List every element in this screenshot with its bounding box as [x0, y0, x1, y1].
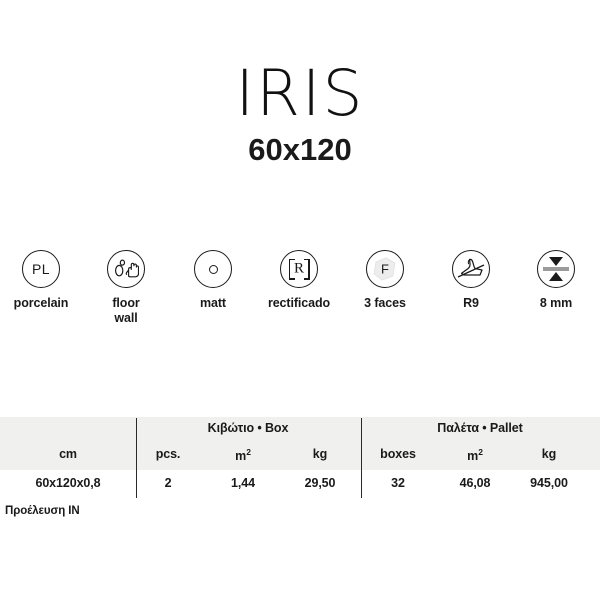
- table-cell-pallet-kg: 945,00: [504, 476, 594, 490]
- slip-resistance-shoe-icon: [452, 250, 490, 288]
- feature-label-floor-wall: floor wall: [83, 296, 169, 325]
- table-cell-cm: 60x120x0,8: [23, 476, 113, 490]
- table-group-header-pallet: Παλέτα • Pallet: [365, 421, 595, 435]
- thickness-arrow-down-top: [549, 257, 563, 266]
- feature-item-porcelain: PL porcelain: [0, 250, 84, 311]
- thickness-arrow-up-bottom: [549, 272, 563, 281]
- feature-item-matt: matt: [170, 250, 256, 311]
- thickness-arrows-wrap: [543, 257, 569, 281]
- table-column-header-box-kg: kg: [275, 447, 365, 461]
- matt-inner-ring: [209, 265, 218, 274]
- matt-finish-ring-icon: [194, 250, 232, 288]
- faces-polygon-wrap: F: [372, 256, 398, 282]
- feature-label-8mm: 8 mm: [513, 296, 599, 311]
- rectified-r-letter: R: [289, 262, 310, 277]
- table-column-header-pallet-kg: kg: [504, 447, 594, 461]
- feature-label-matt: matt: [170, 296, 256, 311]
- faces-f-icon: F: [366, 250, 404, 288]
- page-title: IRIS: [0, 62, 600, 125]
- origin-note: Προέλευση IN: [5, 505, 80, 517]
- table-header: Κιβώτιο • Box Παλέτα • Pallet cm pcs. m2…: [0, 417, 600, 470]
- feature-label-rectificado: rectificado: [256, 296, 342, 311]
- table-column-header-cm: cm: [23, 447, 113, 461]
- faces-f-letter: F: [372, 263, 398, 276]
- feature-item-8mm: 8 mm: [513, 250, 599, 311]
- porcelain-pl-icon: PL: [22, 250, 60, 288]
- slip-resistance-shoe-svg: [456, 257, 486, 281]
- table-group-header-box: Κιβώτιο • Box: [141, 421, 356, 435]
- feature-icon-row: PL porcelain floor wall matt: [0, 250, 600, 340]
- porcelain-pl-icon-text: PL: [32, 262, 50, 276]
- thickness-arrows-icon: [537, 250, 575, 288]
- feature-item-floor-wall: floor wall: [83, 250, 169, 325]
- feature-item-rectificado: R rectificado: [256, 250, 342, 311]
- product-title-block: IRIS 60x120: [0, 62, 600, 168]
- table-divider-1: [136, 418, 137, 498]
- specification-table: Κιβώτιο • Box Παλέτα • Pallet cm pcs. m2…: [0, 417, 600, 498]
- rectified-r-icon: R: [280, 250, 318, 288]
- rectified-bracket-frame: R: [289, 259, 310, 280]
- product-size-subtitle: 60x120: [0, 132, 600, 168]
- feature-item-r9: R9: [428, 250, 514, 311]
- feature-label-porcelain: porcelain: [0, 296, 84, 311]
- thickness-slab-bar: [543, 267, 569, 271]
- feature-item-3-faces: F 3 faces: [342, 250, 428, 311]
- feature-label-r9: R9: [428, 296, 514, 311]
- table-row: 60x120x0,8 2 1,44 29,50 32 46,08 945,00: [0, 470, 600, 498]
- table-cell-box-kg: 29,50: [275, 476, 365, 490]
- table-divider-2: [361, 418, 362, 498]
- feature-label-3-faces: 3 faces: [342, 296, 428, 311]
- footprint-hand-icon: [107, 250, 145, 288]
- footprint-hand-icon-svg: [113, 259, 139, 279]
